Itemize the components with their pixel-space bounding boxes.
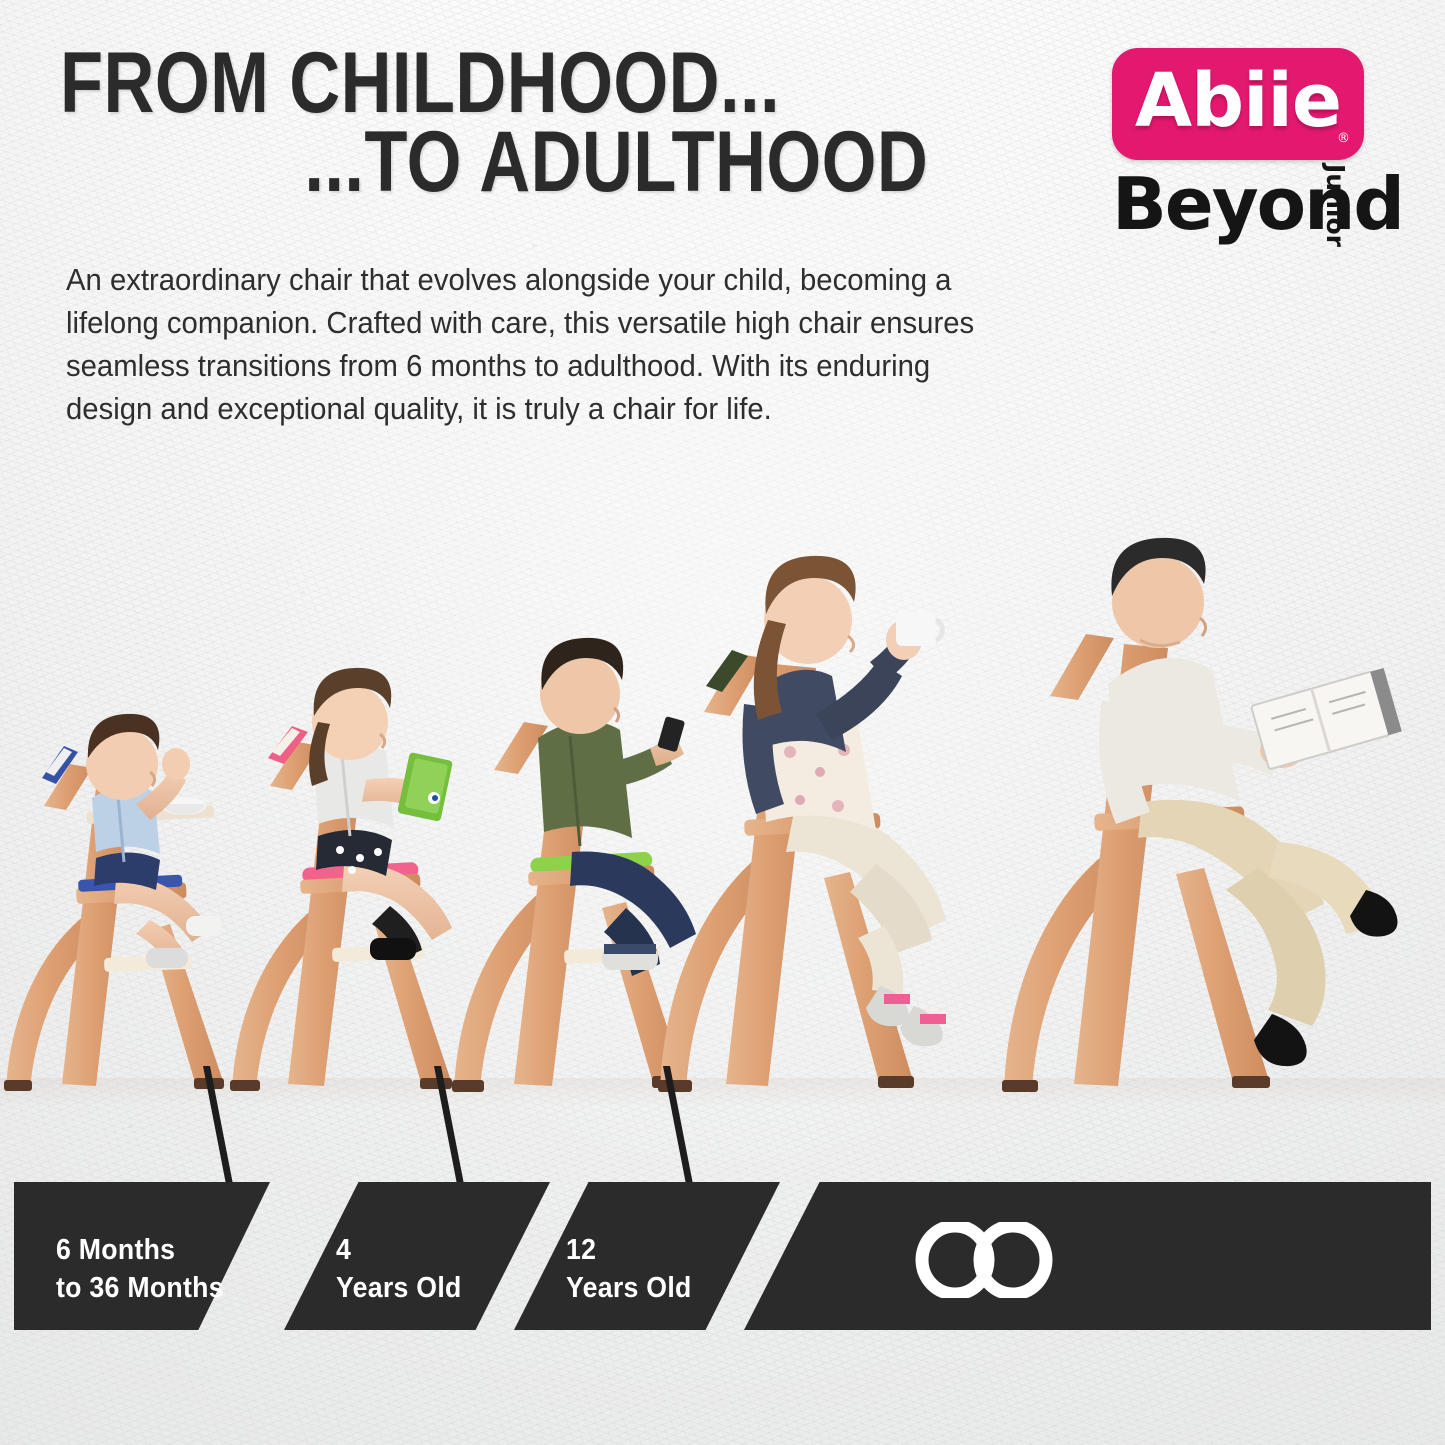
brand-logo: Abiie ® Beyond Junior	[1112, 48, 1402, 256]
headline-line-2: ...TO ADULTHOOD	[304, 123, 1075, 202]
banner-segment-1-line-2: to 36 Months	[56, 1270, 224, 1308]
description-paragraph: An extraordinary chair that evolves alon…	[66, 259, 1007, 432]
banner-segment-3-label: 12 Years Old	[566, 1232, 692, 1307]
registered-trademark-icon: ®	[1337, 131, 1350, 146]
banner-segment-2-line-1: 4	[336, 1232, 462, 1270]
banner-segment-3-line-2: Years Old	[566, 1270, 692, 1308]
product-line-row: Beyond Junior	[1112, 168, 1402, 256]
stage-5-man-with-book	[990, 490, 1440, 1100]
age-range-banner: 6 Months to 36 Months 4 Years Old 12 Yea…	[14, 1182, 1431, 1330]
headline-block: FROM CHILDHOOD... ...TO ADULTHOOD	[60, 44, 1000, 202]
product-name: Beyond	[1112, 168, 1403, 240]
banner-segment-3-line-1: 12	[566, 1232, 692, 1270]
banner-segment-1-label: 6 Months to 36 Months	[56, 1232, 224, 1307]
banner-segment-4	[744, 1182, 1431, 1330]
infinity-icon	[914, 1222, 1054, 1298]
banner-segment-2-line-2: Years Old	[336, 1270, 462, 1308]
brand-badge: Abiie ®	[1112, 48, 1364, 160]
banner-segment-2-label: 4 Years Old	[336, 1232, 462, 1307]
product-suffix: Junior	[1321, 164, 1350, 247]
headline-line-1: FROM CHILDHOOD...	[60, 44, 831, 123]
brand-name: Abiie	[1135, 64, 1341, 138]
product-infographic-poster: FROM CHILDHOOD... ...TO ADULTHOOD An ext…	[0, 0, 1445, 1445]
growth-stages-illustration	[0, 440, 1445, 1100]
banner-segment-1-line-1: 6 Months	[56, 1232, 224, 1270]
stage-4-woman-with-mug	[648, 500, 1048, 1100]
